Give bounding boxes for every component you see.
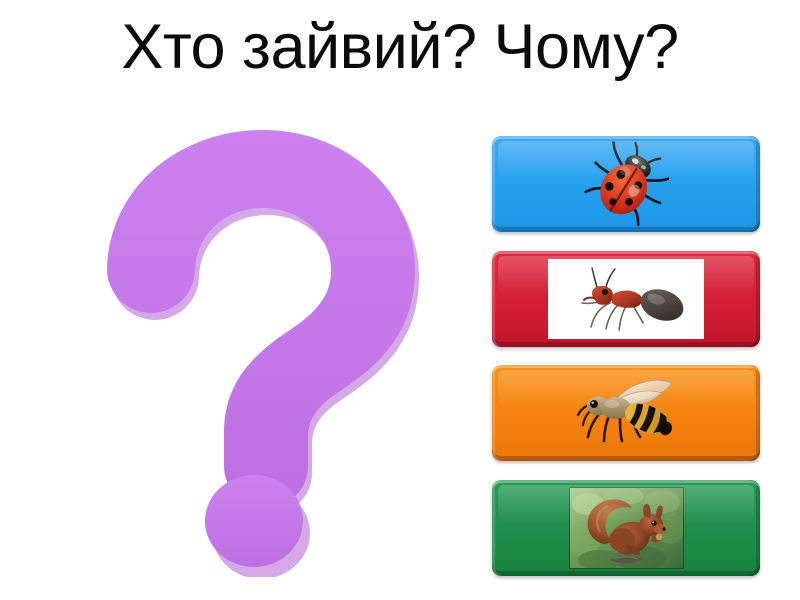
squirrel-photo-frame [570,488,683,568]
squirrel-image [492,480,760,576]
answer-card-ladybug[interactable] [492,136,760,232]
question-mark-icon [85,122,440,577]
answer-card-ant[interactable] [492,251,760,347]
answer-cards-list [492,136,762,576]
answer-card-bee[interactable] [492,365,760,461]
bee-image [492,365,760,461]
ant-photo-frame [548,259,704,339]
page-title: Хто зайвий? Чому? [0,14,800,80]
slide-canvas: Хто зайвий? Чому? [0,0,800,600]
ant-image [492,251,760,347]
ladybug-image [492,136,760,232]
answer-card-squirrel[interactable] [492,480,760,576]
